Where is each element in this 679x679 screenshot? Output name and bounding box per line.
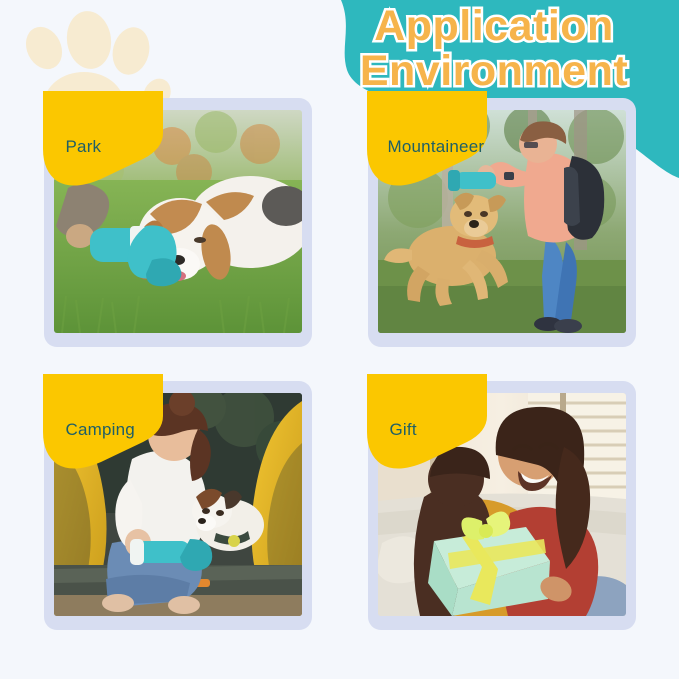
scenario-card-camping[interactable]: Camping <box>44 381 312 630</box>
card-label-camping: Camping <box>66 420 135 440</box>
card-tag-gift <box>367 374 487 469</box>
card-label-mountaineer: Mountaineer <box>388 137 485 157</box>
scenario-card-mountaineer[interactable]: Mountaineer <box>368 98 636 347</box>
card-label-park: Park <box>66 137 102 157</box>
application-scenario-grid: Park <box>0 98 679 630</box>
scenario-card-gift[interactable]: Gift <box>368 381 636 630</box>
title-line-1: Application <box>318 4 670 49</box>
title-line-2: Environment <box>318 49 670 94</box>
card-tag-park <box>43 91 163 186</box>
infographic-canvas: Application Environment <box>0 0 679 679</box>
page-title: Application Environment <box>318 4 670 93</box>
card-row-2: Camping <box>0 381 679 630</box>
scenario-card-park[interactable]: Park <box>44 98 312 347</box>
card-label-gift: Gift <box>390 420 417 440</box>
card-row-1: Park <box>0 98 679 347</box>
